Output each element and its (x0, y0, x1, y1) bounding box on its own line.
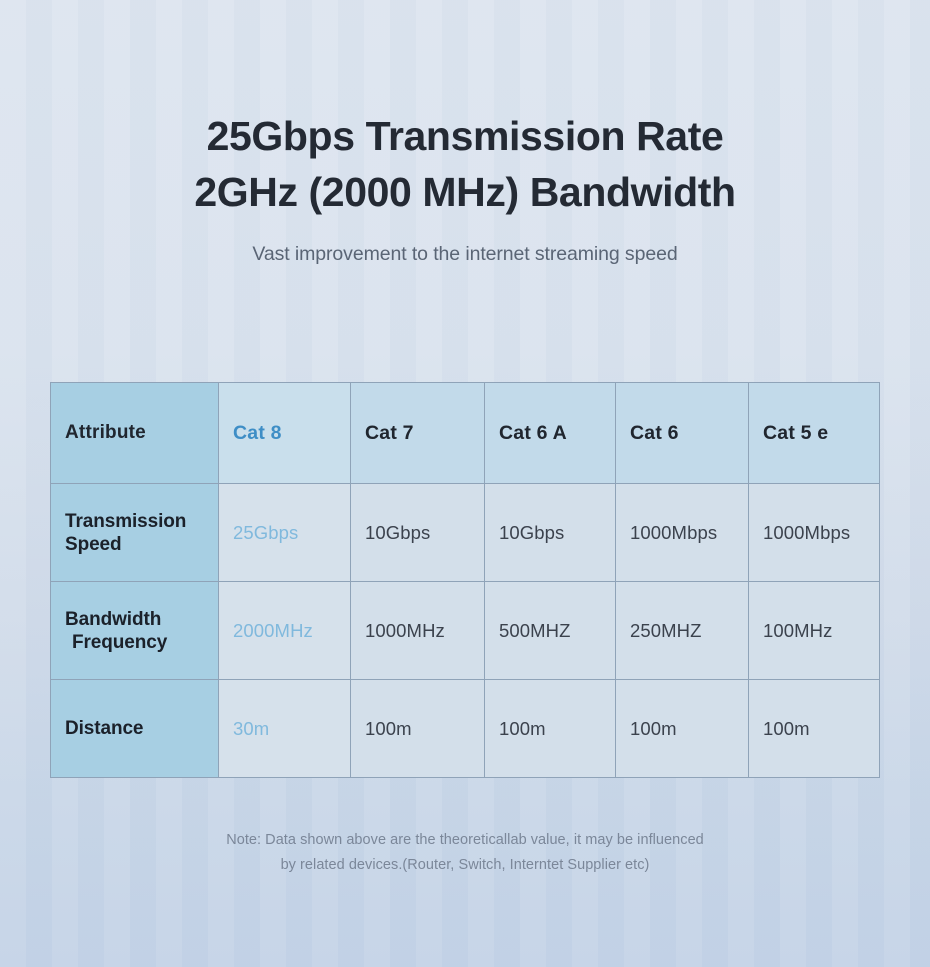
cell-distance-cat6a: 100m (485, 680, 616, 778)
cell-distance-cat7: 100m (351, 680, 485, 778)
cell-bandwidth-frequency-cat6: 250MHZ (616, 582, 749, 680)
column-header-cat5e: Cat 5 e (749, 383, 880, 484)
cell-distance-cat8: 30m (219, 680, 351, 778)
cell-transmission-speed-cat5e: 1000Mbps (749, 484, 880, 582)
row-label-line-1: Transmission (65, 511, 186, 532)
cell-bandwidth-frequency-cat6a: 500MHZ (485, 582, 616, 680)
page-title-line-1: 25Gbps Transmission Rate (0, 108, 930, 164)
column-header-cat6a: Cat 6 A (485, 383, 616, 484)
cell-distance-cat6: 100m (616, 680, 749, 778)
cell-transmission-speed-cat8: 25Gbps (219, 484, 351, 582)
cell-bandwidth-frequency-cat5e: 100MHz (749, 582, 880, 680)
table-header-row: Attribute Cat 8 Cat 7 Cat 6 A Cat 6 Cat … (51, 383, 880, 484)
row-label-transmission-speed: Transmission Speed (51, 484, 219, 582)
cell-bandwidth-frequency-cat8: 2000MHz (219, 582, 351, 680)
page-subtitle: Vast improvement to the internet streami… (0, 241, 930, 267)
footnote-line-1: Note: Data shown above are the theoretic… (0, 828, 930, 853)
cell-transmission-speed-cat7: 10Gbps (351, 484, 485, 582)
table-row: Distance 30m 100m 100m 100m 100m (51, 680, 880, 778)
table-header: Attribute Cat 8 Cat 7 Cat 6 A Cat 6 Cat … (51, 383, 880, 484)
column-header-cat7: Cat 7 (351, 383, 485, 484)
column-header-attribute: Attribute (51, 383, 219, 484)
table-body: Transmission Speed 25Gbps 10Gbps 10Gbps … (51, 484, 880, 778)
hero-heading: 25Gbps Transmission Rate 2GHz (2000 MHz)… (0, 108, 930, 267)
spec-comparison-page: 25Gbps Transmission Rate 2GHz (2000 MHz)… (0, 0, 930, 967)
column-header-cat8: Cat 8 (219, 383, 351, 484)
footnote-line-2: by related devices.(Router, Switch, Inte… (0, 853, 930, 878)
row-label-line-1: Bandwidth (65, 609, 161, 630)
cable-comparison-table: Attribute Cat 8 Cat 7 Cat 6 A Cat 6 Cat … (50, 382, 880, 778)
table-footnote: Note: Data shown above are the theoretic… (0, 828, 930, 878)
cell-bandwidth-frequency-cat7: 1000MHz (351, 582, 485, 680)
row-label-line-2: Speed (65, 533, 218, 556)
cell-distance-cat5e: 100m (749, 680, 880, 778)
row-label-line-1: Distance (65, 718, 143, 739)
column-header-cat6: Cat 6 (616, 383, 749, 484)
row-label-bandwidth-frequency: Bandwidth Frequency (51, 582, 219, 680)
page-title-line-2: 2GHz (2000 MHz) Bandwidth (0, 164, 930, 220)
table-row: Bandwidth Frequency 2000MHz 1000MHz 500M… (51, 582, 880, 680)
cell-transmission-speed-cat6: 1000Mbps (616, 484, 749, 582)
table-row: Transmission Speed 25Gbps 10Gbps 10Gbps … (51, 484, 880, 582)
cell-transmission-speed-cat6a: 10Gbps (485, 484, 616, 582)
row-label-distance: Distance (51, 680, 219, 778)
row-label-line-2: Frequency (65, 631, 218, 654)
